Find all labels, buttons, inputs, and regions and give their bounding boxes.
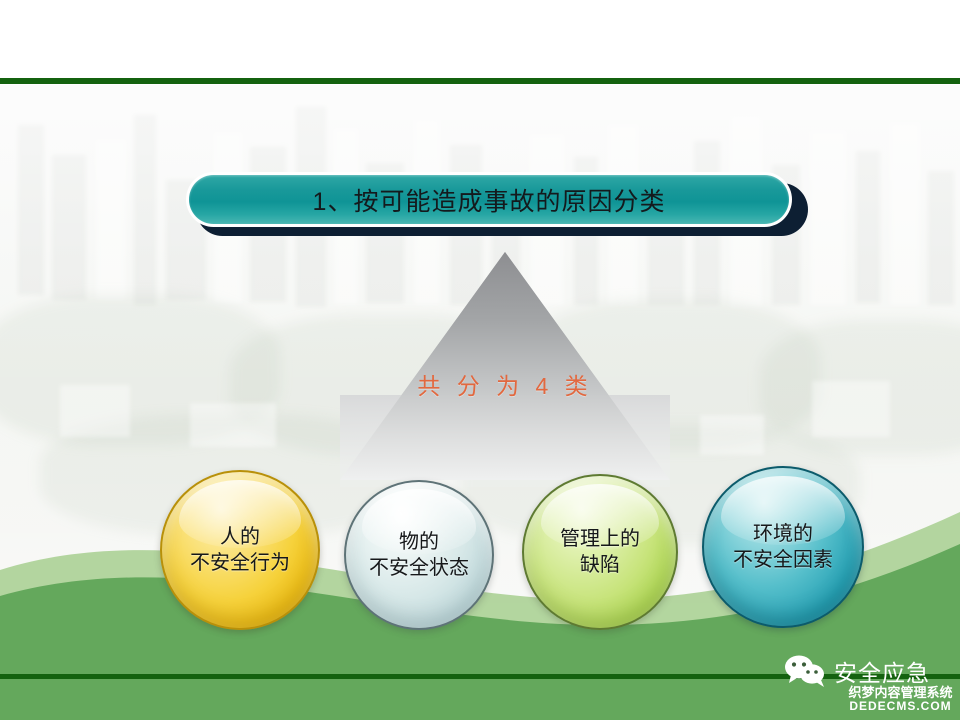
title-banner-text: 1、按可能造成事故的原因分类 (313, 182, 666, 218)
wechat-brand-label: 安全应急 (834, 654, 930, 688)
bubble-label-line2: 不安全状态 (369, 555, 469, 581)
bubble-environment-unsafe-factor[interactable]: 环境的 不安全因素 (702, 466, 864, 628)
watermark-chinese: 织梦内容管理系统 (843, 686, 958, 700)
title-banner[interactable]: 1、按可能造成事故的原因分类 (186, 172, 810, 238)
bubble-management-defect[interactable]: 管理上的 缺陷 (522, 474, 678, 630)
title-banner-body: 1、按可能造成事故的原因分类 (189, 175, 789, 224)
bubble-object-unsafe-state[interactable]: 物的 不安全状态 (344, 480, 494, 630)
watermark: 织梦内容管理系统 DEDECMS.COM (843, 686, 958, 712)
bubble-label-line1: 人的 (220, 524, 260, 550)
bubble-label-line2: 缺陷 (580, 552, 620, 578)
wechat-icon (782, 654, 828, 688)
slide-canvas: 共 分 为 4 类 1、按可能造成事故的原因分类 人的 不安全行为 物的 不安全… (0, 0, 960, 720)
bubble-label-line2: 不安全因素 (733, 547, 833, 573)
up-arrow-shape: 共 分 为 4 类 (215, 247, 795, 487)
watermark-english: DEDECMS.COM (843, 700, 958, 713)
arrow-label: 共 分 为 4 类 (215, 367, 795, 401)
bubble-label-line2: 不安全行为 (190, 550, 290, 576)
bubble-human-unsafe-behavior[interactable]: 人的 不安全行为 (160, 470, 320, 630)
top-divider-line (0, 78, 960, 84)
bubble-label-line1: 物的 (399, 529, 439, 555)
bubble-label-line1: 环境的 (753, 521, 813, 547)
bubble-label-line1: 管理上的 (560, 526, 640, 552)
